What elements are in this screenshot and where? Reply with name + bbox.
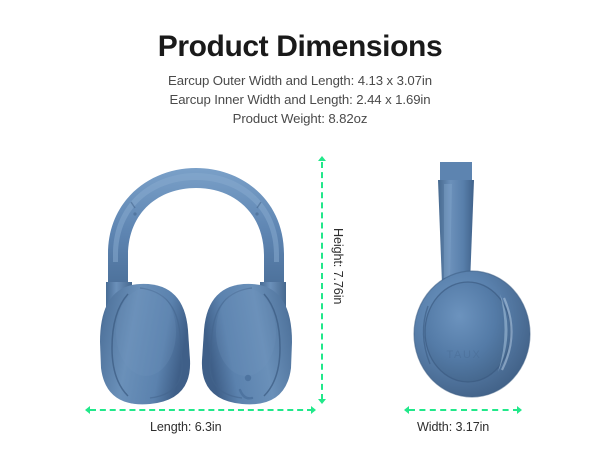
side-headband <box>438 180 474 284</box>
length-arrow-right-icon <box>311 406 316 414</box>
earcup-left-highlight <box>116 288 176 376</box>
height-arrow-bottom-icon <box>318 399 326 404</box>
spec-line-earcup-outer: Earcup Outer Width and Length: 4.13 x 3.… <box>0 71 600 90</box>
headband-dot-left <box>133 212 136 215</box>
control-button-icon <box>245 375 251 381</box>
length-arrow-left-icon <box>85 406 90 414</box>
height-dimension-line <box>321 162 323 400</box>
width-dimension-line <box>409 409 519 411</box>
header: Product Dimensions Earcup Outer Width an… <box>0 30 600 128</box>
width-arrow-right-icon <box>517 406 522 414</box>
earcup-logo: TAUX <box>447 349 482 361</box>
page-title: Product Dimensions <box>0 30 600 65</box>
width-arrow-left-icon <box>404 406 409 414</box>
length-dimension-label: Length: 6.3in <box>150 420 222 434</box>
earcup-right-highlight <box>216 288 276 376</box>
headphones-front-view <box>88 162 304 410</box>
infographic-canvas: Product Dimensions Earcup Outer Width an… <box>0 0 600 450</box>
headphones-side-view: TAUX <box>404 158 554 403</box>
spec-list: Earcup Outer Width and Length: 4.13 x 3.… <box>0 71 600 128</box>
headband-dot-right <box>255 212 258 215</box>
height-dimension-label: Height: 7.76in <box>331 228 345 304</box>
spec-line-earcup-inner: Earcup Inner Width and Length: 2.44 x 1.… <box>0 90 600 109</box>
side-headband-top <box>440 162 472 180</box>
length-dimension-line <box>90 409 313 411</box>
height-arrow-top-icon <box>318 156 326 161</box>
width-dimension-label: Width: 3.17in <box>417 420 489 434</box>
spec-line-weight: Product Weight: 8.82oz <box>0 109 600 128</box>
